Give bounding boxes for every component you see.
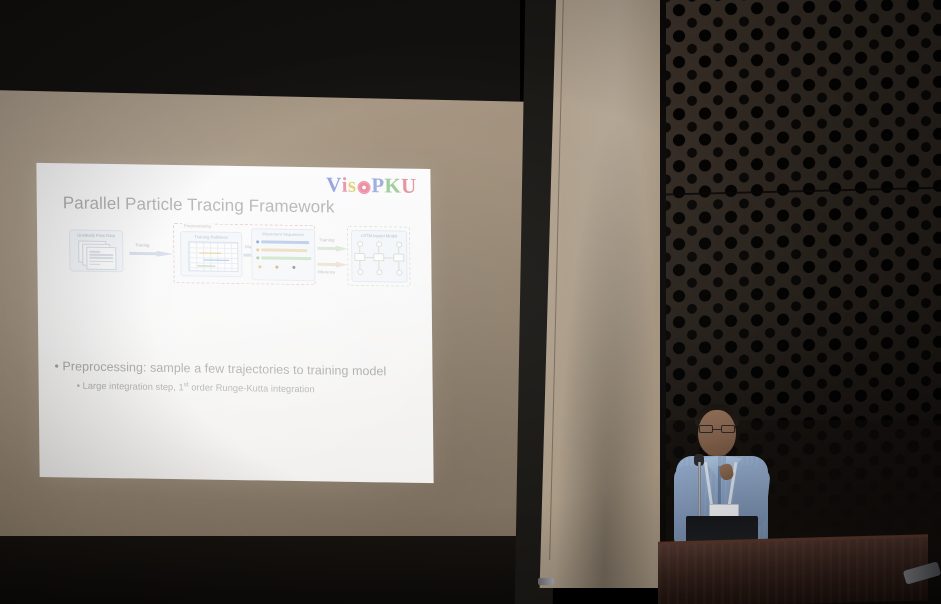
lstm-output-1 <box>357 269 363 275</box>
bullet-level2-prefix: Large integration step, 1 <box>83 381 184 393</box>
logo-letter-u: U <box>401 174 417 199</box>
projected-slide: VisPKU Parallel Particle Tracing Framewo… <box>36 163 433 483</box>
sequence-row-4 <box>258 265 295 269</box>
bullet-marker-2: • <box>77 381 80 391</box>
sequence-row-2 <box>256 248 307 252</box>
floor-dark-area <box>0 536 530 604</box>
ceiling-dark-area <box>0 0 520 106</box>
logo-letter-s: s <box>348 173 357 198</box>
lstm-output-2 <box>376 269 382 275</box>
logo-letter-v: V <box>326 172 342 197</box>
flow-card-3 <box>86 247 116 270</box>
bullet-level2: • Large integration step, 1st order Rung… <box>77 380 415 396</box>
lstm-input-3 <box>396 242 402 248</box>
node-lstm-label: LSTM-based Model <box>352 232 406 238</box>
lstm-cell-2 <box>373 253 384 261</box>
slide-bullet-list: • Preprocessing: sample a few trajectori… <box>54 359 414 396</box>
sequence-row-1 <box>256 240 309 244</box>
logo-letter-p: P <box>371 173 384 198</box>
lstm-out-edge-2 <box>378 261 379 269</box>
bullet-level1: • Preprocessing: sample a few trajectori… <box>54 359 414 379</box>
node-flow-label: Unsteady Flow Data <box>70 232 122 238</box>
pathline-3 <box>197 265 215 267</box>
vispku-logo: VisPKU <box>326 172 417 198</box>
node-movement-sequences: Movement Sequences <box>251 228 316 281</box>
arrow-inference-label: Inference <box>317 269 335 274</box>
lstm-link-2 <box>384 257 393 258</box>
arrow-training-label: Training <box>319 237 334 242</box>
arrow-inference <box>317 261 347 267</box>
lstm-in-edge-2 <box>378 247 379 253</box>
pathline-1 <box>199 252 221 254</box>
lstm-link-1 <box>365 257 373 258</box>
arrow-tracing <box>129 250 173 257</box>
sequence-row-3 <box>256 256 311 260</box>
lstm-cell-3 <box>393 253 404 261</box>
bullet-level1-text: Preprocessing: sample a few trajectories… <box>62 359 386 378</box>
node-training-pathlines: Training Pathlines <box>180 231 242 277</box>
framework-diagram: Preprocessing Unsteady Flow Data <box>65 221 411 288</box>
glasses-icon <box>699 425 735 433</box>
lstm-input-2 <box>376 241 382 247</box>
lstm-cell-1 <box>354 253 365 261</box>
node-lstm-model: LSTM-based Model <box>351 230 408 283</box>
lstm-output-3 <box>396 270 402 276</box>
flow-card-lines <box>89 251 113 267</box>
pathline-2 <box>203 259 229 261</box>
bullet-marker-1: • <box>54 359 59 373</box>
arrow-training <box>317 245 347 251</box>
flower-icon <box>357 181 370 194</box>
pathlines-grid <box>188 241 238 272</box>
lstm-out-edge-3 <box>398 262 399 270</box>
arrow-tracing-label: Tracing <box>135 242 149 247</box>
slide-title: Parallel Particle Tracing Framework <box>63 193 335 217</box>
lstm-in-edge-3 <box>398 248 399 254</box>
floor-microphone-base <box>538 578 554 585</box>
presentation-photo-scene: VisPKU Parallel Particle Tracing Framewo… <box>0 0 941 604</box>
node-sequences-label: Movement Sequences <box>252 231 314 237</box>
preprocessing-group-label: Preprocessing <box>182 223 213 228</box>
lstm-out-edge-1 <box>359 261 360 269</box>
node-pathlines-label: Training Pathlines <box>181 234 241 240</box>
lstm-in-edge-1 <box>359 247 360 253</box>
node-unsteady-flow-data: Unsteady Flow Data <box>69 229 123 272</box>
lstm-input-1 <box>357 241 363 247</box>
podium <box>658 537 928 604</box>
logo-letter-k: K <box>384 173 401 198</box>
bullet-level2-suffix: order Runge-Kutta integration <box>189 382 315 394</box>
